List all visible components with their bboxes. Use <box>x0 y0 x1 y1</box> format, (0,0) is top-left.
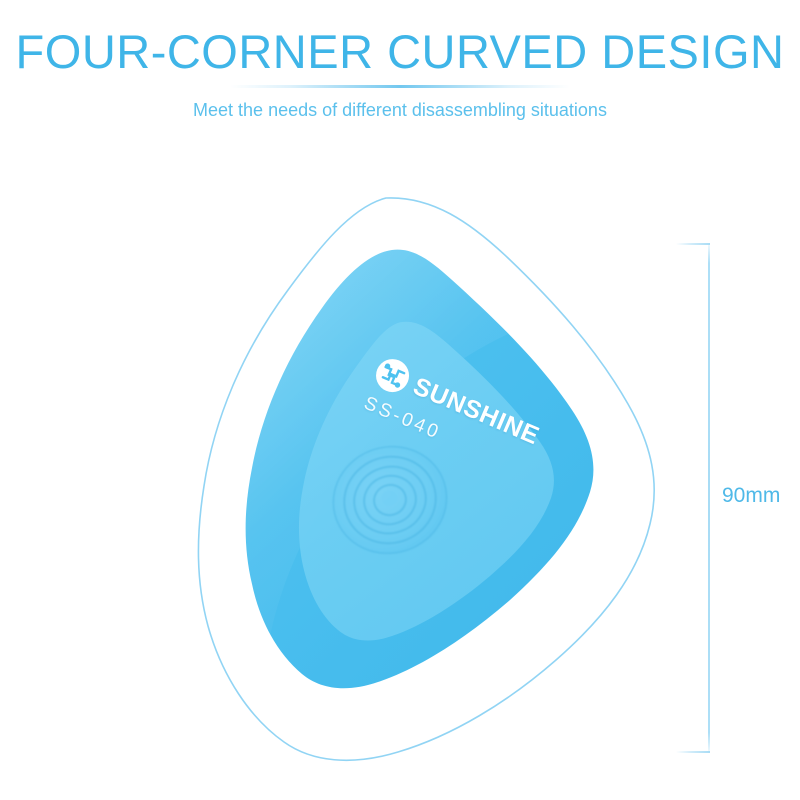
dimension-cap-bottom <box>676 751 710 753</box>
dimension-cap-top <box>676 243 710 245</box>
dimension-line <box>708 243 710 753</box>
dimension-callout: 90mm <box>676 238 796 758</box>
product-infographic-page: FOUR-CORNER CURVED DESIGN Meet the needs… <box>0 0 800 800</box>
dimension-label: 90mm <box>722 484 780 508</box>
